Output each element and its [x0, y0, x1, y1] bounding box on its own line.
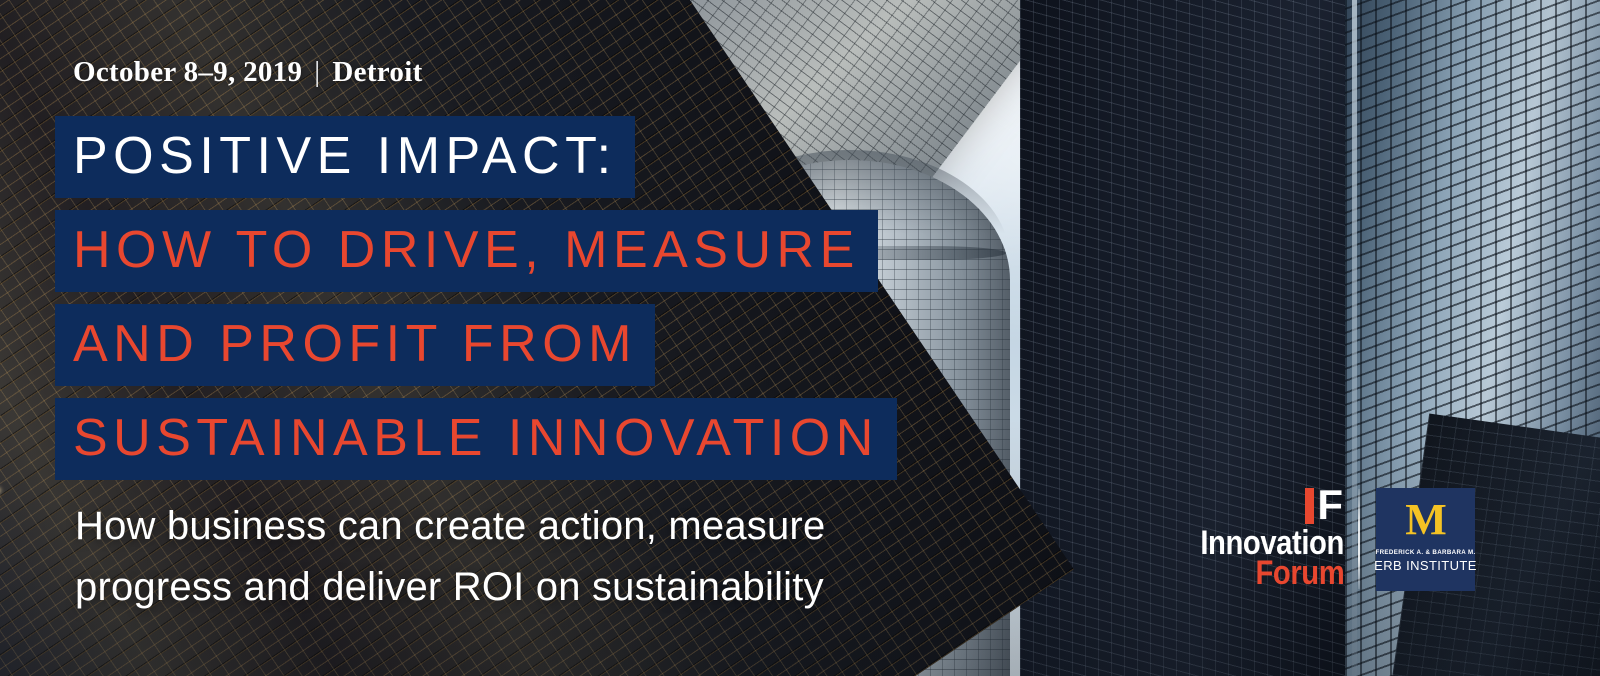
subheadline-line-2: progress and deliver ROI on sustainabili…: [75, 557, 825, 618]
event-dates: October 8–9, 2019: [73, 56, 302, 88]
headline-line-3: AND PROFIT FROM: [55, 304, 655, 386]
headline-row-4: SUSTAINABLE INNOVATION: [55, 398, 897, 480]
erb-institute-logo[interactable]: M FREDERICK A. & BARBARA M. ERB INSTITUT…: [1376, 488, 1475, 591]
headline-row-1: POSITIVE IMPACT:: [55, 116, 897, 198]
banner-content: October 8–9, 2019|Detroit POSITIVE IMPAC…: [0, 0, 1600, 676]
headline-row-3: AND PROFIT FROM: [55, 304, 897, 386]
if-f-glyph: F: [1317, 487, 1342, 524]
event-date-location: October 8–9, 2019|Detroit: [73, 56, 423, 89]
eyebrow-separator: |: [302, 56, 332, 89]
innovation-forum-word-forum: Forum: [1255, 556, 1344, 590]
erb-institute-name: ERB INSTITUTE: [1374, 558, 1477, 573]
innovation-forum-mark-icon: F: [1305, 484, 1342, 524]
headline-line-1: POSITIVE IMPACT:: [55, 116, 635, 198]
event-banner: October 8–9, 2019|Detroit POSITIVE IMPAC…: [0, 0, 1600, 676]
innovation-forum-logo[interactable]: F Innovation Forum: [1196, 484, 1346, 594]
headline-block: POSITIVE IMPACT: HOW TO DRIVE, MEASURE A…: [55, 116, 897, 480]
if-i-bar: [1305, 488, 1314, 524]
logo-lockup: F Innovation Forum M FREDERICK A. & BARB…: [1196, 478, 1475, 600]
event-city: Detroit: [332, 56, 422, 88]
logo-divider: [1358, 489, 1360, 589]
headline-line-2: HOW TO DRIVE, MEASURE: [55, 210, 878, 292]
erb-institute-donor-line: FREDERICK A. & BARBARA M.: [1375, 549, 1475, 556]
headline-row-2: HOW TO DRIVE, MEASURE: [55, 210, 897, 292]
headline-line-4: SUSTAINABLE INNOVATION: [55, 398, 897, 480]
michigan-m-icon: M: [1405, 498, 1446, 543]
subheadline: How business can create action, measure …: [75, 496, 825, 618]
subheadline-line-1: How business can create action, measure: [75, 496, 825, 557]
